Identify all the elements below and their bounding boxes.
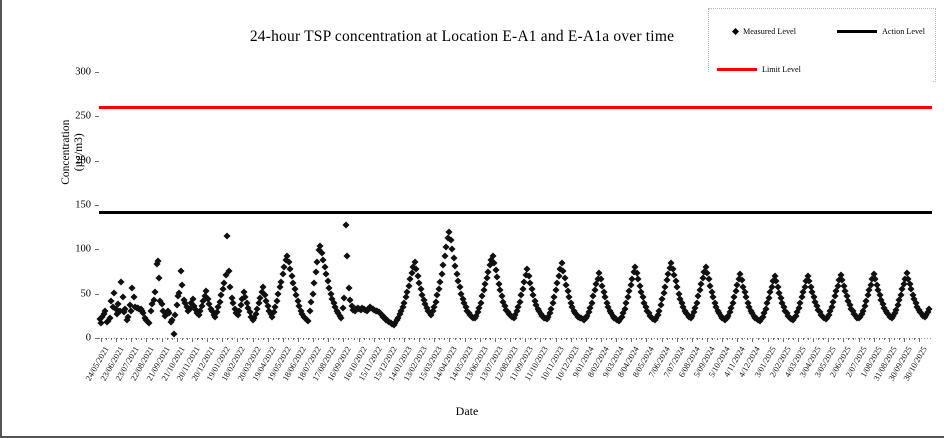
x-axis-minor-tick xyxy=(717,338,718,340)
x-axis-minor-tick xyxy=(853,338,854,340)
x-axis-tick xyxy=(525,338,526,342)
x-axis-minor-tick xyxy=(278,338,279,340)
x-axis-minor-tick xyxy=(455,338,456,340)
x-axis-minor-tick xyxy=(702,338,703,340)
x-axis-tick xyxy=(237,338,238,342)
x-axis-tick xyxy=(662,338,663,342)
x-axis-minor-tick xyxy=(424,338,425,340)
x-axis-minor-tick xyxy=(576,338,577,340)
x-axis-minor-tick xyxy=(530,338,531,340)
x-axis-tick xyxy=(374,338,375,342)
x-axis-minor-tick xyxy=(894,338,895,340)
y-axis-tick-label: 300 xyxy=(61,67,91,78)
data-point xyxy=(274,290,281,297)
x-axis-minor-tick xyxy=(742,338,743,340)
data-point xyxy=(484,268,491,275)
x-axis-minor-tick xyxy=(470,338,471,340)
legend-item-measured-level[interactable]: Measured Level xyxy=(733,27,796,36)
x-axis-tick xyxy=(146,338,147,342)
data-point xyxy=(173,302,180,309)
x-axis-tick xyxy=(328,338,329,342)
data-point xyxy=(447,237,454,244)
x-axis-minor-tick xyxy=(884,338,885,340)
x-axis-minor-tick xyxy=(682,338,683,340)
x-axis-minor-tick xyxy=(778,338,779,340)
data-point xyxy=(451,263,458,270)
x-axis-minor-tick xyxy=(217,338,218,340)
x-axis-minor-tick xyxy=(126,338,127,340)
data-point xyxy=(304,318,311,325)
x-axis-minor-tick xyxy=(641,338,642,340)
y-axis-tick-label: 200 xyxy=(61,155,91,166)
data-point xyxy=(306,308,313,315)
data-point xyxy=(151,288,158,295)
x-axis-tick xyxy=(631,338,632,342)
data-point xyxy=(673,284,680,291)
x-axis-minor-tick xyxy=(247,338,248,340)
x-axis-minor-tick xyxy=(545,338,546,340)
x-axis-minor-tick xyxy=(106,338,107,340)
x-axis-tick xyxy=(207,338,208,342)
y-axis-tick-label: 150 xyxy=(61,200,91,211)
line-marker-icon xyxy=(837,30,877,33)
x-axis-minor-tick xyxy=(439,338,440,340)
y-axis-title-line1: Concentration xyxy=(60,87,73,217)
plot-area xyxy=(99,72,932,338)
data-point xyxy=(439,262,446,269)
x-axis-minor-tick xyxy=(697,338,698,340)
data-point xyxy=(158,301,165,308)
x-axis-tick xyxy=(616,338,617,342)
x-axis-minor-tick xyxy=(157,338,158,340)
x-axis-minor-tick xyxy=(788,338,789,340)
chart-page: 24-hour TSP concentration at Location E-… xyxy=(0,0,944,438)
data-point xyxy=(705,276,712,283)
x-axis-tick xyxy=(298,338,299,342)
x-axis-minor-tick xyxy=(444,338,445,340)
x-axis-minor-tick xyxy=(909,338,910,340)
x-axis-tick xyxy=(268,338,269,342)
x-axis-minor-tick xyxy=(394,338,395,340)
data-point xyxy=(553,279,560,286)
data-point xyxy=(438,271,445,278)
data-point xyxy=(448,246,455,253)
data-point xyxy=(324,278,331,285)
line-marker-icon xyxy=(717,68,757,71)
x-axis-minor-tick xyxy=(333,338,334,340)
x-axis-tick xyxy=(737,338,738,342)
chart-legend: Measured Level Action Level Limit Level xyxy=(708,8,936,82)
data-point xyxy=(694,293,701,300)
x-axis-tick xyxy=(404,338,405,342)
x-axis-tick xyxy=(692,338,693,342)
x-axis-minor-tick xyxy=(197,338,198,340)
x-axis-minor-tick xyxy=(121,338,122,340)
x-axis-minor-tick xyxy=(591,338,592,340)
x-axis-minor-tick xyxy=(136,338,137,340)
data-point xyxy=(342,222,349,229)
x-axis-minor-tick xyxy=(323,338,324,340)
y-axis-tick-label: 250 xyxy=(61,111,91,122)
x-axis-minor-tick xyxy=(379,338,380,340)
x-axis-minor-tick xyxy=(242,338,243,340)
x-axis-minor-tick xyxy=(172,338,173,340)
x-axis-minor-tick xyxy=(823,338,824,340)
x-axis-minor-tick xyxy=(490,338,491,340)
x-axis-minor-tick xyxy=(515,338,516,340)
legend-item-action-level[interactable]: Action Level xyxy=(837,27,925,36)
x-axis-minor-tick xyxy=(651,338,652,340)
x-axis-tick xyxy=(752,338,753,342)
x-axis-minor-tick xyxy=(672,338,673,340)
data-point xyxy=(310,279,317,286)
x-axis-tick xyxy=(419,338,420,342)
x-axis-minor-tick xyxy=(712,338,713,340)
x-axis-minor-tick xyxy=(611,338,612,340)
limit-level-line xyxy=(99,106,932,109)
data-point xyxy=(307,298,314,305)
data-point xyxy=(441,253,448,260)
data-point xyxy=(145,319,152,326)
data-point xyxy=(226,283,233,290)
x-axis-minor-tick xyxy=(414,338,415,340)
data-point xyxy=(661,283,668,290)
data-point xyxy=(217,292,224,299)
x-axis-minor-tick xyxy=(818,338,819,340)
x-axis-minor-tick xyxy=(338,338,339,340)
data-point xyxy=(453,271,460,278)
data-point xyxy=(343,253,350,260)
y-axis-title-line2: (µg/m3) xyxy=(73,87,86,217)
x-axis-minor-tick xyxy=(141,338,142,340)
x-axis-minor-tick xyxy=(581,338,582,340)
x-axis-minor-tick xyxy=(727,338,728,340)
x-axis-minor-tick xyxy=(566,338,567,340)
y-axis-tick-label: 0 xyxy=(61,333,91,344)
x-axis-minor-tick xyxy=(364,338,365,340)
x-axis-tick xyxy=(586,338,587,342)
x-axis-tick xyxy=(843,338,844,342)
x-axis-tick xyxy=(343,338,344,342)
x-axis-minor-tick xyxy=(263,338,264,340)
x-axis-minor-tick xyxy=(520,338,521,340)
x-axis-tick xyxy=(798,338,799,342)
x-axis-minor-tick xyxy=(318,338,319,340)
x-axis-minor-tick xyxy=(793,338,794,340)
x-axis-minor-tick xyxy=(485,338,486,340)
data-point xyxy=(223,232,230,239)
data-point xyxy=(119,294,126,301)
data-point xyxy=(286,265,293,272)
x-axis-tick xyxy=(253,338,254,342)
data-point xyxy=(345,285,352,292)
x-axis-minor-tick xyxy=(561,338,562,340)
x-axis-minor-tick xyxy=(293,338,294,340)
x-axis-minor-tick xyxy=(500,338,501,340)
x-axis-minor-tick xyxy=(763,338,764,340)
x-axis-minor-tick xyxy=(384,338,385,340)
x-axis-tick xyxy=(646,338,647,342)
x-axis-minor-tick xyxy=(667,338,668,340)
data-point xyxy=(450,255,457,262)
x-axis-minor-tick xyxy=(288,338,289,340)
x-axis-minor-tick xyxy=(182,338,183,340)
data-point xyxy=(406,276,413,283)
data-point xyxy=(492,266,499,273)
x-axis-minor-tick xyxy=(687,338,688,340)
x-axis-minor-tick xyxy=(187,338,188,340)
x-axis-minor-tick xyxy=(409,338,410,340)
x-axis-tick xyxy=(116,338,117,342)
x-axis-minor-tick xyxy=(354,338,355,340)
x-axis-tick xyxy=(601,338,602,342)
x-axis-tick xyxy=(192,338,193,342)
x-axis-tick xyxy=(222,338,223,342)
x-axis-minor-tick xyxy=(803,338,804,340)
x-axis-tick xyxy=(101,338,102,342)
x-axis-minor-tick xyxy=(626,338,627,340)
x-axis-title: Date xyxy=(2,404,932,419)
action-level-line xyxy=(99,211,932,214)
x-axis-minor-tick xyxy=(399,338,400,340)
x-axis-tick xyxy=(359,338,360,342)
x-axis-tick xyxy=(889,338,890,342)
y-axis-tick-label: 100 xyxy=(61,244,91,255)
legend-label-action-level: Action Level xyxy=(882,27,925,36)
x-axis-minor-tick xyxy=(550,338,551,340)
data-point xyxy=(155,274,162,281)
data-point xyxy=(517,292,524,299)
x-axis-tick xyxy=(495,338,496,342)
x-axis-tick xyxy=(874,338,875,342)
x-axis-minor-tick xyxy=(808,338,809,340)
x-axis-minor-tick xyxy=(833,338,834,340)
x-axis-tick xyxy=(768,338,769,342)
data-point xyxy=(117,279,124,286)
x-axis-minor-tick xyxy=(303,338,304,340)
data-point xyxy=(436,279,443,286)
data-point xyxy=(456,284,463,291)
x-axis-minor-tick xyxy=(657,338,658,340)
x-axis-minor-tick xyxy=(505,338,506,340)
x-axis-tick xyxy=(162,338,163,342)
x-axis-minor-tick xyxy=(838,338,839,340)
x-axis-minor-tick xyxy=(747,338,748,340)
x-axis-minor-tick xyxy=(848,338,849,340)
data-point xyxy=(259,283,266,290)
x-axis-minor-tick xyxy=(460,338,461,340)
data-point xyxy=(433,292,440,299)
x-axis-minor-tick xyxy=(869,338,870,340)
data-point xyxy=(170,330,177,337)
x-axis-minor-tick xyxy=(212,338,213,340)
x-axis-minor-tick xyxy=(606,338,607,340)
data-point xyxy=(130,294,137,301)
data-point xyxy=(288,272,295,279)
x-axis-minor-tick xyxy=(758,338,759,340)
x-axis-minor-tick xyxy=(475,338,476,340)
x-axis-minor-tick xyxy=(596,338,597,340)
x-axis-tick xyxy=(510,338,511,342)
x-axis-minor-tick xyxy=(535,338,536,340)
data-point xyxy=(322,271,329,278)
data-point xyxy=(319,256,326,263)
legend-label-measured-level: Measured Level xyxy=(743,27,796,36)
x-axis-minor-tick xyxy=(899,338,900,340)
x-axis-tick xyxy=(480,338,481,342)
x-axis-tick xyxy=(707,338,708,342)
x-axis-minor-tick xyxy=(429,338,430,340)
x-axis-minor-tick xyxy=(732,338,733,340)
data-point xyxy=(309,290,316,297)
data-point xyxy=(128,285,135,292)
x-axis-tick xyxy=(813,338,814,342)
x-axis-tick xyxy=(556,338,557,342)
x-axis-minor-tick xyxy=(308,338,309,340)
x-axis-tick xyxy=(313,338,314,342)
x-axis-minor-tick xyxy=(636,338,637,340)
x-axis-tick xyxy=(434,338,435,342)
x-axis-tick xyxy=(571,338,572,342)
data-point xyxy=(177,267,184,274)
x-axis-minor-tick xyxy=(152,338,153,340)
x-axis-tick xyxy=(389,338,390,342)
x-axis-minor-tick xyxy=(864,338,865,340)
x-axis-minor-tick xyxy=(773,338,774,340)
x-axis-minor-tick xyxy=(167,338,168,340)
data-point xyxy=(178,281,185,288)
x-axis-tick xyxy=(131,338,132,342)
x-axis-tick xyxy=(783,338,784,342)
x-axis-tick xyxy=(904,338,905,342)
x-axis-tick xyxy=(465,338,466,342)
x-axis-minor-tick xyxy=(202,338,203,340)
x-axis-tick xyxy=(722,338,723,342)
x-axis-minor-tick xyxy=(879,338,880,340)
x-axis-tick xyxy=(177,338,178,342)
data-point xyxy=(147,308,154,315)
x-axis-minor-tick xyxy=(369,338,370,340)
diamond-marker-icon xyxy=(732,28,739,35)
data-point xyxy=(110,289,117,296)
x-axis-tick xyxy=(540,338,541,342)
x-axis-tick xyxy=(449,338,450,342)
x-axis-minor-tick xyxy=(232,338,233,340)
y-axis-title: Concentration (µg/m3) xyxy=(60,87,86,217)
data-point xyxy=(478,293,485,300)
x-axis-tick xyxy=(677,338,678,342)
y-axis-tick-label: 50 xyxy=(61,288,91,299)
data-point xyxy=(589,293,596,300)
x-axis-minor-tick xyxy=(348,338,349,340)
data-point xyxy=(493,273,500,280)
x-axis-minor-tick xyxy=(621,338,622,340)
x-axis-minor-tick xyxy=(258,338,259,340)
x-axis-minor-tick xyxy=(111,338,112,340)
x-axis-tick xyxy=(919,338,920,342)
x-axis-tick xyxy=(283,338,284,342)
data-point xyxy=(312,268,319,275)
x-axis-minor-tick xyxy=(914,338,915,340)
data-point xyxy=(321,264,328,271)
x-axis-minor-tick xyxy=(273,338,274,340)
x-axis-tick xyxy=(828,338,829,342)
x-axis-tick xyxy=(859,338,860,342)
x-axis-minor-tick xyxy=(227,338,228,340)
data-point xyxy=(279,271,286,278)
